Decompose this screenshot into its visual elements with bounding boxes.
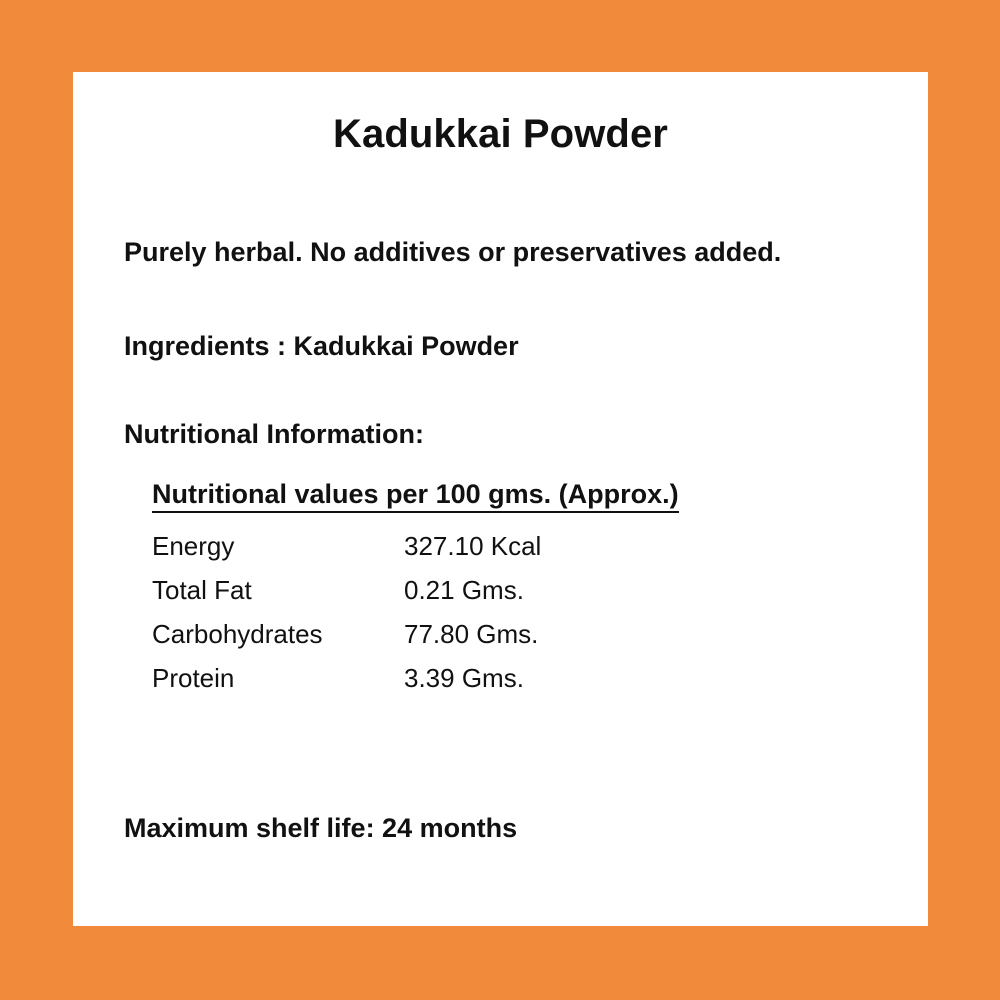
nutrient-value: 3.39 Gms. — [404, 663, 704, 707]
nutrient-label: Protein — [152, 663, 404, 707]
nutrient-label: Carbohydrates — [152, 619, 404, 663]
table-row: Protein 3.39 Gms. — [152, 663, 704, 707]
nutritional-information-heading: Nutritional Information: — [124, 418, 424, 450]
table-row: Carbohydrates 77.80 Gms. — [152, 619, 704, 663]
table-row: Energy 327.10 Kcal — [152, 531, 704, 575]
nutrition-subheading: Nutritional values per 100 gms. (Approx.… — [152, 478, 679, 513]
nutrient-label: Total Fat — [152, 575, 404, 619]
nutrition-table: Energy 327.10 Kcal Total Fat 0.21 Gms. C… — [152, 531, 704, 707]
nutrient-value: 0.21 Gms. — [404, 575, 704, 619]
nutrient-value: 77.80 Gms. — [404, 619, 704, 663]
ingredients-text: Ingredients : Kadukkai Powder — [124, 330, 519, 362]
nutrition-block: Nutritional values per 100 gms. (Approx.… — [152, 478, 852, 707]
nutrient-value: 327.10 Kcal — [404, 531, 704, 575]
label-card: Kadukkai Powder Purely herbal. No additi… — [73, 72, 928, 926]
nutrient-label: Energy — [152, 531, 404, 575]
label-orange-border: Kadukkai Powder Purely herbal. No additi… — [0, 0, 1000, 1000]
shelf-life-text: Maximum shelf life: 24 months — [124, 812, 517, 844]
page-title: Kadukkai Powder — [73, 112, 928, 156]
table-row: Total Fat 0.21 Gms. — [152, 575, 704, 619]
tagline-text: Purely herbal. No additives or preservat… — [124, 236, 781, 268]
